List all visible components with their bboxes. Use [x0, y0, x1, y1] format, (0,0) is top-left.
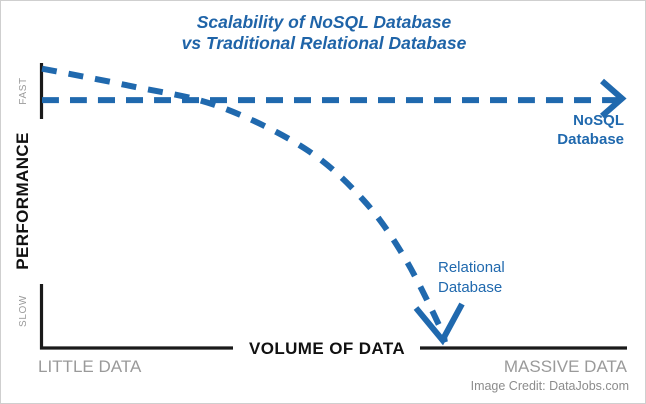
y-axis-tick-fast: FAST: [18, 77, 29, 104]
scalability-line-chart: Scalability of NoSQL Database vs Traditi…: [1, 1, 646, 404]
series-relational-database: [42, 69, 462, 343]
series-label-relational-line-1: Relational: [438, 259, 505, 276]
y-axis-title: PERFORMANCE: [13, 132, 32, 270]
x-axis-title: VOLUME OF DATA: [249, 339, 405, 358]
chart-title-line-2: vs Traditional Relational Database: [182, 33, 467, 53]
series-label-nosql-line-1: NoSQL: [573, 112, 624, 129]
series-label-relational-line-2: Database: [438, 279, 502, 296]
chart-figure: Scalability of NoSQL Database vs Traditi…: [0, 0, 646, 404]
series-relational-line: [42, 69, 445, 343]
image-credit: Image Credit: DataJobs.com: [471, 379, 629, 393]
chart-title-line-1: Scalability of NoSQL Database: [197, 12, 452, 32]
series-label-nosql-line-2: Database: [557, 131, 624, 148]
x-axis-tick-massive-data: MASSIVE DATA: [504, 357, 628, 376]
y-axis-tick-slow: SLOW: [18, 295, 29, 327]
x-axis-tick-little-data: LITTLE DATA: [38, 357, 142, 376]
